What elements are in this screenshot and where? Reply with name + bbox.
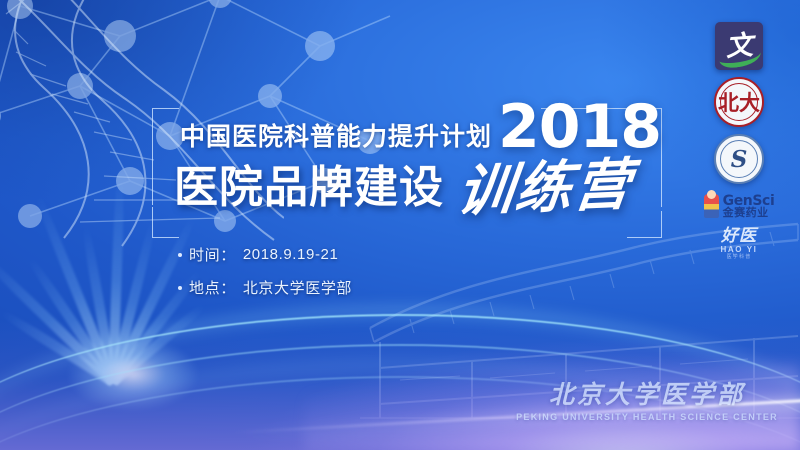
headline-block: 中国医院科普能力提升计划 2018 医院品牌建设 训练营: [152, 108, 662, 238]
place-label: 地点：: [189, 277, 236, 298]
gensci-cn-label: 金赛药业: [723, 208, 775, 219]
brush-title: 训练营: [454, 156, 635, 220]
watermark-en: PEKING UNIVERSITY HEALTH SCIENCE CENTER: [516, 412, 778, 422]
program-name: 中国医院科普能力提升计划: [180, 125, 492, 154]
place-value: 北京大学医学部: [243, 277, 352, 298]
haoyi-cn-label: 好医: [721, 228, 757, 245]
bullet-icon: [178, 253, 182, 257]
sponsor-logo-column: 文 北大 S GenSci 金赛药业 好医 HAO YI 医学科普: [692, 22, 786, 260]
science-society-seal: S: [714, 134, 764, 184]
main-title: 医院品牌建设: [174, 166, 444, 210]
event-poster: 中国医院科普能力提升计划 2018 医院品牌建设 训练营 时间： 2018.9.…: [0, 0, 800, 450]
time-value: 2018.9.19-21: [243, 246, 339, 263]
time-label: 时间：: [189, 244, 236, 265]
gensci-logo: GenSci 金赛药业: [697, 191, 781, 221]
haoyi-en-label: HAO YI: [720, 246, 757, 254]
bracket-bottom-right: [627, 211, 662, 238]
info-row-time: 时间： 2018.9.19-21: [178, 244, 352, 265]
peking-university-seal: 北大: [714, 77, 764, 127]
pku-seal-glyph: 北大: [718, 92, 760, 113]
haoyi-sub-label: 医学科普: [727, 255, 752, 260]
haoyi-logo: 好医 HAO YI 医学科普: [696, 228, 782, 260]
science-seal-glyph: S: [731, 148, 748, 171]
venue-watermark: 北京大学医学部 PEKING UNIVERSITY HEALTH SCIENCE…: [516, 382, 778, 422]
headline-line-one: 中国医院科普能力提升计划 2018: [180, 102, 661, 154]
gensci-en-label: GenSci: [723, 194, 775, 208]
event-info: 时间： 2018.9.19-21 地点： 北京大学医学部: [178, 244, 352, 310]
gensci-figure-icon: [704, 194, 719, 218]
gensci-text: GenSci 金赛药业: [723, 194, 775, 219]
culture-square-logo: 文: [715, 22, 763, 70]
event-year: 2018: [498, 102, 661, 154]
watermark-cn: 北京大学医学部: [516, 382, 778, 407]
headline-line-two: 医院品牌建设 训练营: [174, 160, 632, 216]
info-row-place: 地点： 北京大学医学部: [178, 277, 352, 298]
bullet-icon: [178, 286, 182, 290]
